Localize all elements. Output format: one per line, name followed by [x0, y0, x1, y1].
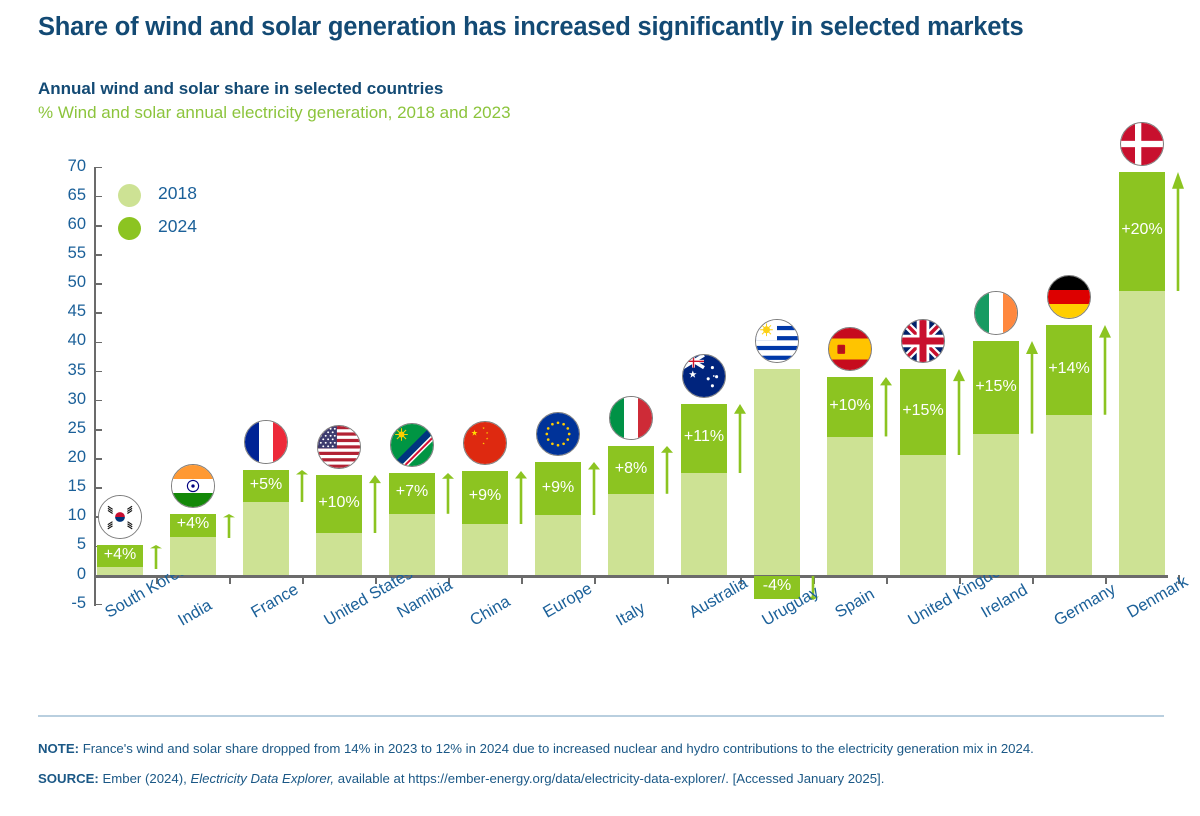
- bar-segment-2018[interactable]: [316, 533, 362, 576]
- y-axis-tick-mark: [94, 487, 102, 489]
- y-axis-tick-label: 5: [46, 535, 86, 554]
- y-axis-tick-label: 30: [46, 390, 86, 409]
- x-axis-tick-mark: [302, 575, 304, 584]
- y-axis-line: [94, 168, 96, 606]
- increase-arrow-icon: [440, 473, 456, 514]
- flag-icon-europe: [536, 412, 580, 456]
- y-axis-tick-mark: [94, 371, 102, 373]
- x-axis-tick-mark: [667, 575, 669, 584]
- flag-icon-italy: [609, 396, 653, 440]
- y-axis-tick-mark: [94, 225, 102, 227]
- source-text: SOURCE: Ember (2024), Electricity Data E…: [38, 770, 884, 788]
- flag-icon-united-states: [317, 425, 361, 469]
- legend-label-2018: 2018: [158, 183, 197, 204]
- bar-delta-label: +11%: [681, 428, 727, 446]
- x-axis-label: France: [248, 580, 302, 622]
- flag-icon-uruguay: [755, 319, 799, 363]
- x-axis-tick-mark: [886, 575, 888, 584]
- flag-icon-namibia: [390, 423, 434, 467]
- increase-arrow-icon: [367, 475, 383, 533]
- x-axis-label: Denmark: [1124, 573, 1191, 623]
- x-axis-label: Germany: [1051, 580, 1119, 630]
- legend-swatch-2018: [118, 184, 141, 207]
- bar-segment-2018[interactable]: [973, 434, 1019, 576]
- y-axis-tick-label: 45: [46, 302, 86, 321]
- bar-delta-label: +9%: [462, 487, 508, 505]
- y-axis-tick-mark: [94, 283, 102, 285]
- footer-divider: [38, 715, 1164, 717]
- y-axis-tick-mark: [94, 254, 102, 256]
- x-axis-tick-mark: [1032, 575, 1034, 584]
- bar-delta-label: +9%: [535, 479, 581, 497]
- bar-segment-2018[interactable]: [97, 567, 143, 576]
- source-pre: Ember (2024),: [102, 771, 186, 786]
- bar-chart-plot: -50510152025303540455055606570+4%South K…: [0, 0, 1200, 816]
- flag-icon-china: [463, 421, 507, 465]
- x-axis-label: Spain: [832, 585, 878, 623]
- y-axis-tick-mark: [94, 312, 102, 314]
- x-axis-tick-mark: [521, 575, 523, 584]
- flag-icon-australia: [682, 354, 726, 398]
- bar-delta-label: +10%: [827, 397, 873, 415]
- bar-segment-2018[interactable]: [243, 502, 289, 575]
- bar-delta-label: +4%: [97, 546, 143, 564]
- note-body: France's wind and solar share dropped fr…: [83, 741, 1034, 756]
- increase-arrow-icon: [586, 462, 602, 516]
- note-label: NOTE:: [38, 741, 79, 756]
- y-axis-tick-mark: [94, 400, 102, 402]
- bar-segment-2018[interactable]: [462, 524, 508, 575]
- y-axis-tick-mark: [94, 167, 102, 169]
- increase-arrow-icon: [148, 545, 164, 569]
- chart-page: Share of wind and solar generation has i…: [0, 0, 1200, 816]
- increase-arrow-icon: [513, 471, 529, 525]
- y-axis-tick-label: 50: [46, 273, 86, 292]
- increase-arrow-icon: [732, 404, 748, 473]
- flag-icon-india: [171, 464, 215, 508]
- bar-segment-2018[interactable]: [1046, 415, 1092, 576]
- bar-delta-label: +4%: [170, 515, 216, 533]
- bar-delta-label: +20%: [1119, 221, 1165, 239]
- y-axis-tick-label: 35: [46, 361, 86, 380]
- y-axis-tick-label: 65: [46, 186, 86, 205]
- y-axis-tick-mark: [94, 429, 102, 431]
- bar-segment-2018[interactable]: [900, 455, 946, 575]
- increase-arrow-icon: [1097, 325, 1113, 415]
- bar-delta-label: -4%: [754, 577, 800, 595]
- y-axis-tick-label: 25: [46, 419, 86, 438]
- y-axis-tick-mark: [94, 342, 102, 344]
- bar-segment-2018[interactable]: [827, 437, 873, 576]
- bar-delta-label: +15%: [973, 378, 1019, 396]
- x-axis-tick-mark: [229, 575, 231, 584]
- y-axis-tick-mark: [94, 196, 102, 198]
- bar-delta-label: +15%: [900, 402, 946, 420]
- source-publication: Electricity Data Explorer,: [190, 771, 334, 786]
- increase-arrow-icon: [1024, 341, 1040, 434]
- note-text: NOTE: France's wind and solar share drop…: [38, 740, 1034, 758]
- increase-arrow-icon: [659, 446, 675, 494]
- bar-delta-label: +7%: [389, 483, 435, 501]
- flag-icon-france: [244, 420, 288, 464]
- increase-arrow-icon: [951, 369, 967, 455]
- increase-arrow-icon: [294, 470, 310, 502]
- increase-arrow-icon: [1170, 172, 1186, 291]
- increase-arrow-icon: [221, 514, 237, 538]
- legend-label-2024: 2024: [158, 216, 197, 237]
- x-axis-label: India: [175, 596, 215, 630]
- flag-icon-germany: [1047, 275, 1091, 319]
- bar-segment-2018[interactable]: [681, 473, 727, 576]
- x-axis-label: Australia: [686, 574, 751, 623]
- y-axis-tick-label: 10: [46, 506, 86, 525]
- flag-icon-denmark: [1120, 122, 1164, 166]
- flag-icon-united-kingdom: [901, 319, 945, 363]
- y-axis-tick-mark: [94, 458, 102, 460]
- x-axis-label: China: [467, 592, 514, 630]
- y-axis-tick-label: 70: [46, 157, 86, 176]
- y-axis-tick-label: 15: [46, 477, 86, 496]
- bar-segment-2018[interactable]: [389, 514, 435, 576]
- bar-delta-label: +5%: [243, 476, 289, 494]
- y-axis-tick-label: 40: [46, 331, 86, 350]
- flag-icon-spain: [828, 327, 872, 371]
- bar-segment-2018[interactable]: [1119, 291, 1165, 575]
- legend-swatch-2024: [118, 217, 141, 240]
- y-axis-tick-label: 60: [46, 215, 86, 234]
- bar-delta-label: +8%: [608, 460, 654, 478]
- bar-segment-2018[interactable]: [608, 494, 654, 576]
- y-axis-tick-label: -5: [46, 594, 86, 613]
- flag-icon-ireland: [974, 291, 1018, 335]
- y-axis-tick-label: 55: [46, 244, 86, 263]
- x-axis-label: Italy: [613, 599, 649, 631]
- y-axis-tick-label: 20: [46, 448, 86, 467]
- source-post: available at https://ember-energy.org/da…: [338, 771, 885, 786]
- increase-arrow-icon: [878, 377, 894, 436]
- y-axis-tick-label: 0: [46, 565, 86, 584]
- bar-delta-label: +10%: [316, 494, 362, 512]
- bar-segment-2018[interactable]: [170, 537, 216, 575]
- source-label: SOURCE:: [38, 771, 99, 786]
- bar-segment-2018[interactable]: [535, 515, 581, 575]
- bar-delta-label: +14%: [1046, 360, 1092, 378]
- x-axis-tick-mark: [594, 575, 596, 584]
- flag-icon-south-korea: [98, 495, 142, 539]
- bar-segment-2018[interactable]: [754, 369, 800, 575]
- x-axis-label: Europe: [540, 579, 596, 622]
